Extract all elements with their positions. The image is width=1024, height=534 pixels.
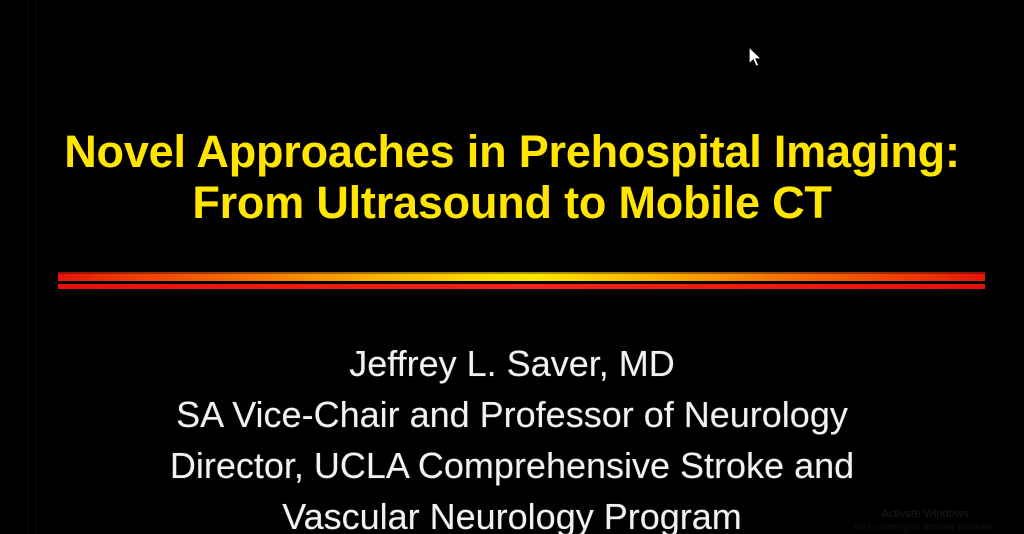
windows-activation-watermark: Activate Windows Go to Settings to activ… [854,508,996,534]
presenter-title: SA Vice-Chair and Professor of Neurology [0,389,1024,440]
presentation-slide: Novel Approaches in Prehospital Imaging:… [0,0,1024,534]
presenter-name: Jeffrey L. Saver, MD [0,338,1024,389]
arrow-pointer-icon [748,46,764,70]
watermark-subtitle: Go to Settings to activate Windows. [854,521,996,534]
presenter-block: Jeffrey L. Saver, MD SA Vice-Chair and P… [0,338,1024,534]
slide-title-line-2: From Ultrasound to Mobile CT [0,177,1024,228]
slide-title-line-1: Novel Approaches in Prehospital Imaging: [0,126,1024,177]
watermark-title: Activate Windows [854,508,996,521]
title-divider [58,272,985,289]
presenter-affiliation-line-1: Director, UCLA Comprehensive Stroke and [0,440,1024,491]
mouse-cursor [748,46,764,70]
divider-gradient-bar [58,272,985,281]
slide-title: Novel Approaches in Prehospital Imaging:… [0,126,1024,228]
divider-accent-bar [58,284,985,289]
